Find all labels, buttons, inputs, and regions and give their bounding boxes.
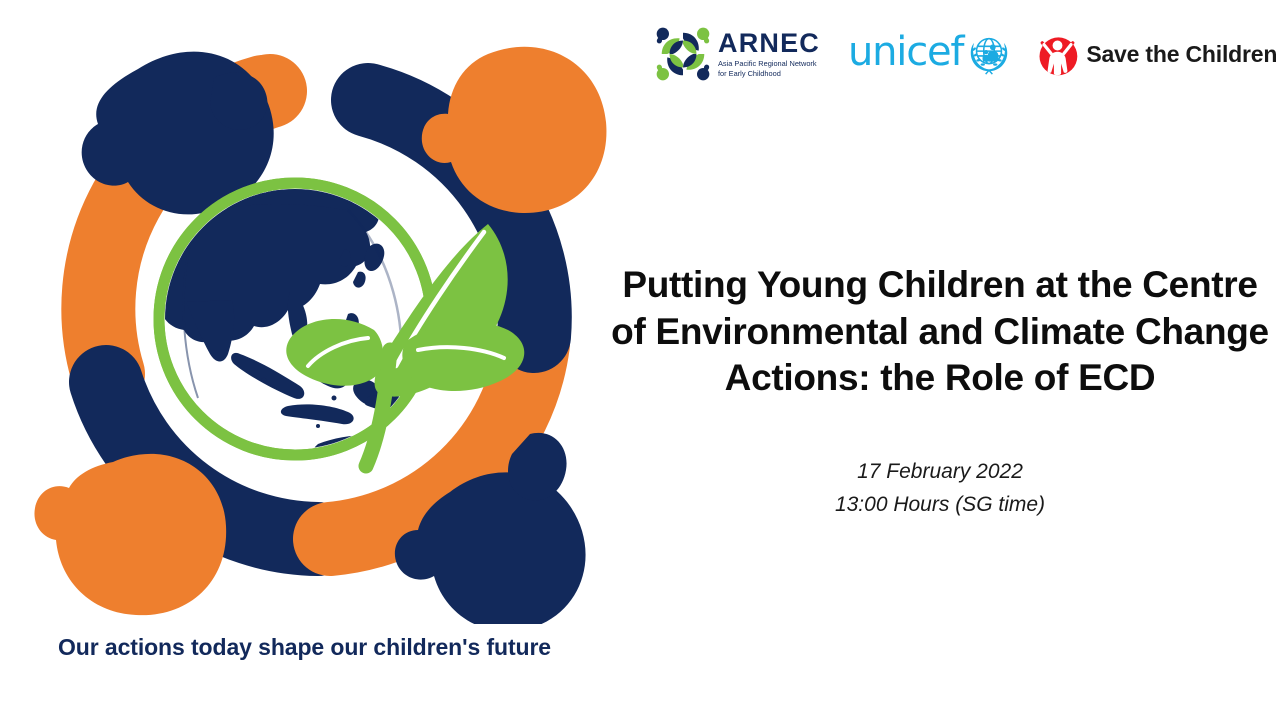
title-block: Putting Young Children at the Centre of … [610, 262, 1270, 402]
save-the-children-wordmark: Save the Children [1086, 43, 1277, 66]
save-the-children-child-circle-icon [1035, 32, 1080, 77]
unicef-logo: unicef [848, 30, 1013, 78]
children-circle-globe-illustration [18, 14, 628, 624]
partner-logo-bar: ARNEC Asia Pacific Regional Network for … [655, 24, 1277, 84]
save-the-children-logo: Save the Children [1035, 32, 1277, 77]
arnec-logo: ARNEC Asia Pacific Regional Network for … [655, 26, 822, 82]
arnec-pinwheel-people-icon [655, 26, 711, 82]
arnec-subtitle: Asia Pacific Regional Network for Early … [718, 59, 822, 77]
arnec-wordmark: ARNEC Asia Pacific Regional Network for … [718, 30, 822, 77]
datetime-block: 17 February 2022 13:00 Hours (SG time) [610, 456, 1270, 521]
arnec-name: ARNEC [718, 30, 822, 57]
event-time: 13:00 Hours (SG time) [610, 489, 1270, 522]
figure-head-bottom-left [34, 454, 226, 615]
tagline: Our actions today shape our children's f… [58, 634, 551, 661]
unicef-wordmark: unicef [848, 32, 963, 72]
page-title: Putting Young Children at the Centre of … [610, 262, 1270, 402]
event-date: 17 February 2022 [610, 456, 1270, 489]
unicef-globe-laurel-icon [965, 30, 1013, 78]
